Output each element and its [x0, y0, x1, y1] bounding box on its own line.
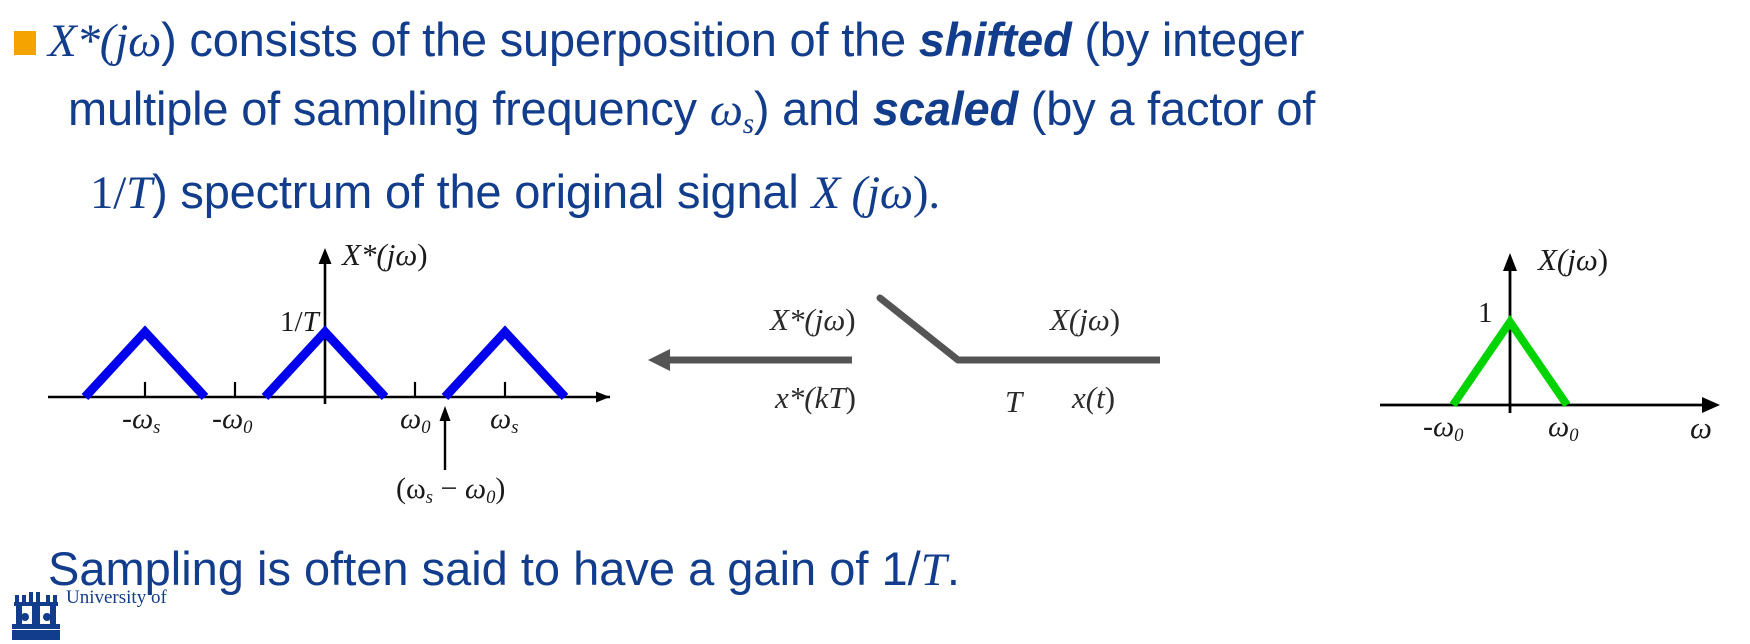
left-xtick0-omega: -ω [122, 402, 153, 435]
left-title-omega: ω [395, 237, 417, 272]
left-spectrum-chart [30, 232, 670, 532]
left-ylabel: 1/T [280, 306, 319, 339]
larrowb-close: ) [846, 380, 856, 415]
left-ylabel-num: 1/ [280, 306, 303, 338]
left-ann-omega2: ω [465, 472, 486, 505]
summary-T: T [921, 544, 947, 596]
summary-line: Sampling is often said to have a gain of… [48, 540, 960, 599]
rarrow-j: j [1079, 302, 1088, 337]
right-xtick1-sub: 0 [1569, 425, 1578, 446]
summary-period: . [947, 542, 960, 595]
larrow-omega: ω [823, 302, 845, 337]
left-xtick-label-pos-ws: ωs [490, 402, 518, 439]
logo-caption: University of [66, 588, 167, 608]
left-ann-close: ) [495, 472, 505, 505]
bullet-l2-tail: (by a factor of [1018, 82, 1315, 135]
bullet-l1-text: ) consists of the superposition of the [161, 13, 919, 66]
bullet-l2-text: multiple of sampling frequency [68, 82, 710, 135]
left-annotation-label: (ωs − ω0) [396, 472, 505, 509]
left-ann-open: (ω [396, 472, 426, 505]
bullet-l3-frac: 1/ [90, 167, 126, 219]
right-arrow-label-below: x(t) [1072, 380, 1115, 416]
sampler-block-diagram [640, 232, 1200, 452]
sampler-T: T [1005, 384, 1022, 419]
rarrow-X: X( [1050, 302, 1079, 337]
left-annotation-arrowhead [440, 406, 451, 421]
larrowb-x: x*( [775, 380, 815, 415]
bullet-l2-emphasis: scaled [873, 82, 1018, 135]
right-xtick-label-pos-w0: ω0 [1548, 410, 1578, 447]
rarrow-omega: ω [1088, 302, 1110, 337]
right-xtick0-omega: -ω [1423, 410, 1454, 443]
left-xtick-label-pos-w0: ω0 [400, 402, 430, 439]
bullet-text: X*(jω) consists of the superposition of … [48, 6, 1748, 227]
right-xtick0-sub: 0 [1454, 425, 1463, 446]
left-ylabel-T: T [303, 306, 319, 338]
university-logo: University of [8, 578, 178, 644]
bullet-l2-omega-sub: s [743, 108, 754, 140]
castle-crest-icon [8, 584, 64, 644]
sampler-switch-blade-icon [880, 298, 958, 360]
right-xaxis-label: ω [1690, 410, 1712, 446]
bullet-l3-X: X [811, 167, 840, 219]
rarrowb-t: t [1096, 380, 1105, 415]
left-title-close: ) [417, 237, 427, 272]
left-xtick2-omega: ω [400, 402, 421, 435]
bullet-line-1: X*(jω) consists of the superposition of … [48, 6, 1748, 75]
left-arrow-label-below: x*(kT) [775, 380, 856, 416]
larrow-close: ) [845, 302, 855, 337]
left-signal-arrowhead [648, 349, 670, 371]
slide-canvas: X*(jω) consists of the superposition of … [0, 0, 1750, 644]
left-xtick1-omega: -ω [212, 402, 243, 435]
rarrowb-x: x( [1072, 380, 1096, 415]
right-title-j: j [1567, 242, 1576, 277]
bullet-line-3: 1/T) spectrum of the original signal X (… [48, 158, 1748, 227]
left-ann-minus: − [433, 472, 465, 505]
bullet-line-2: multiple of sampling frequency ωs) and s… [48, 75, 1748, 158]
right-xtick-label-neg-w0: -ω0 [1423, 410, 1463, 447]
right-title-X: X( [1538, 242, 1567, 277]
left-chart-title: X*(jω) [342, 237, 428, 273]
bullet-l3-T: T [126, 167, 152, 219]
sampler-period-label: T [1005, 384, 1022, 420]
left-arrow-label-above: X*(jω) [770, 302, 856, 338]
right-title-close: ) [1598, 242, 1608, 277]
bullet-l3-text: ) spectrum of the original signal [152, 165, 811, 218]
left-xtick2-sub: 0 [421, 417, 430, 438]
left-xtick1-sub: 0 [243, 417, 252, 438]
bullet-l3-omega: ω [880, 167, 913, 219]
larrowb-k: k [815, 380, 829, 415]
right-arrow-label-above: X(jω) [1050, 302, 1120, 338]
larrow-X: X*( [770, 302, 815, 337]
right-xtick1-omega: ω [1548, 410, 1569, 443]
left-xtick0-sub: s [153, 417, 160, 438]
left-y-axis-arrowhead [319, 248, 332, 264]
right-chart-title: X(jω) [1538, 242, 1608, 278]
left-xtick3-omega: ω [490, 402, 511, 435]
bullet-l1-tail: (by integer [1071, 13, 1304, 66]
sampling-figure: X*(jω) 1/T -ωs -ω0 ω0 ωs (ωs − ω0) X*(jω… [0, 232, 1750, 532]
left-ann-sub2: 0 [486, 487, 495, 508]
summary-text: Sampling is often said to have a gain of… [48, 542, 921, 595]
left-xtick-label-neg-ws: -ωs [122, 402, 160, 439]
right-ylabel: 1 [1478, 297, 1493, 330]
larrowb-T: T [828, 380, 845, 415]
bullet-l2-omega: ω [710, 84, 743, 136]
bullet-l1-math: X*(j [48, 15, 128, 67]
right-y-axis-arrowhead [1503, 253, 1517, 271]
left-ann-sub1: s [426, 487, 433, 508]
bullet-l3-close: ). [913, 167, 940, 219]
bullet-l1-emphasis: shifted [919, 13, 1072, 66]
bullet-l1-omega: ω [128, 15, 161, 67]
bullet-l2-mid: ) and [754, 82, 873, 135]
bullet-l3-open: (j [840, 167, 880, 219]
left-title-X: X*( [342, 237, 387, 272]
left-xtick3-sub: s [511, 417, 518, 438]
rarrowb-close: ) [1105, 380, 1115, 415]
right-title-omega: ω [1576, 242, 1598, 277]
left-xtick-label-neg-w0: -ω0 [212, 402, 252, 439]
left-x-axis-arrowhead [596, 392, 610, 403]
bullet-square-icon [14, 31, 36, 55]
rarrow-close: ) [1110, 302, 1120, 337]
